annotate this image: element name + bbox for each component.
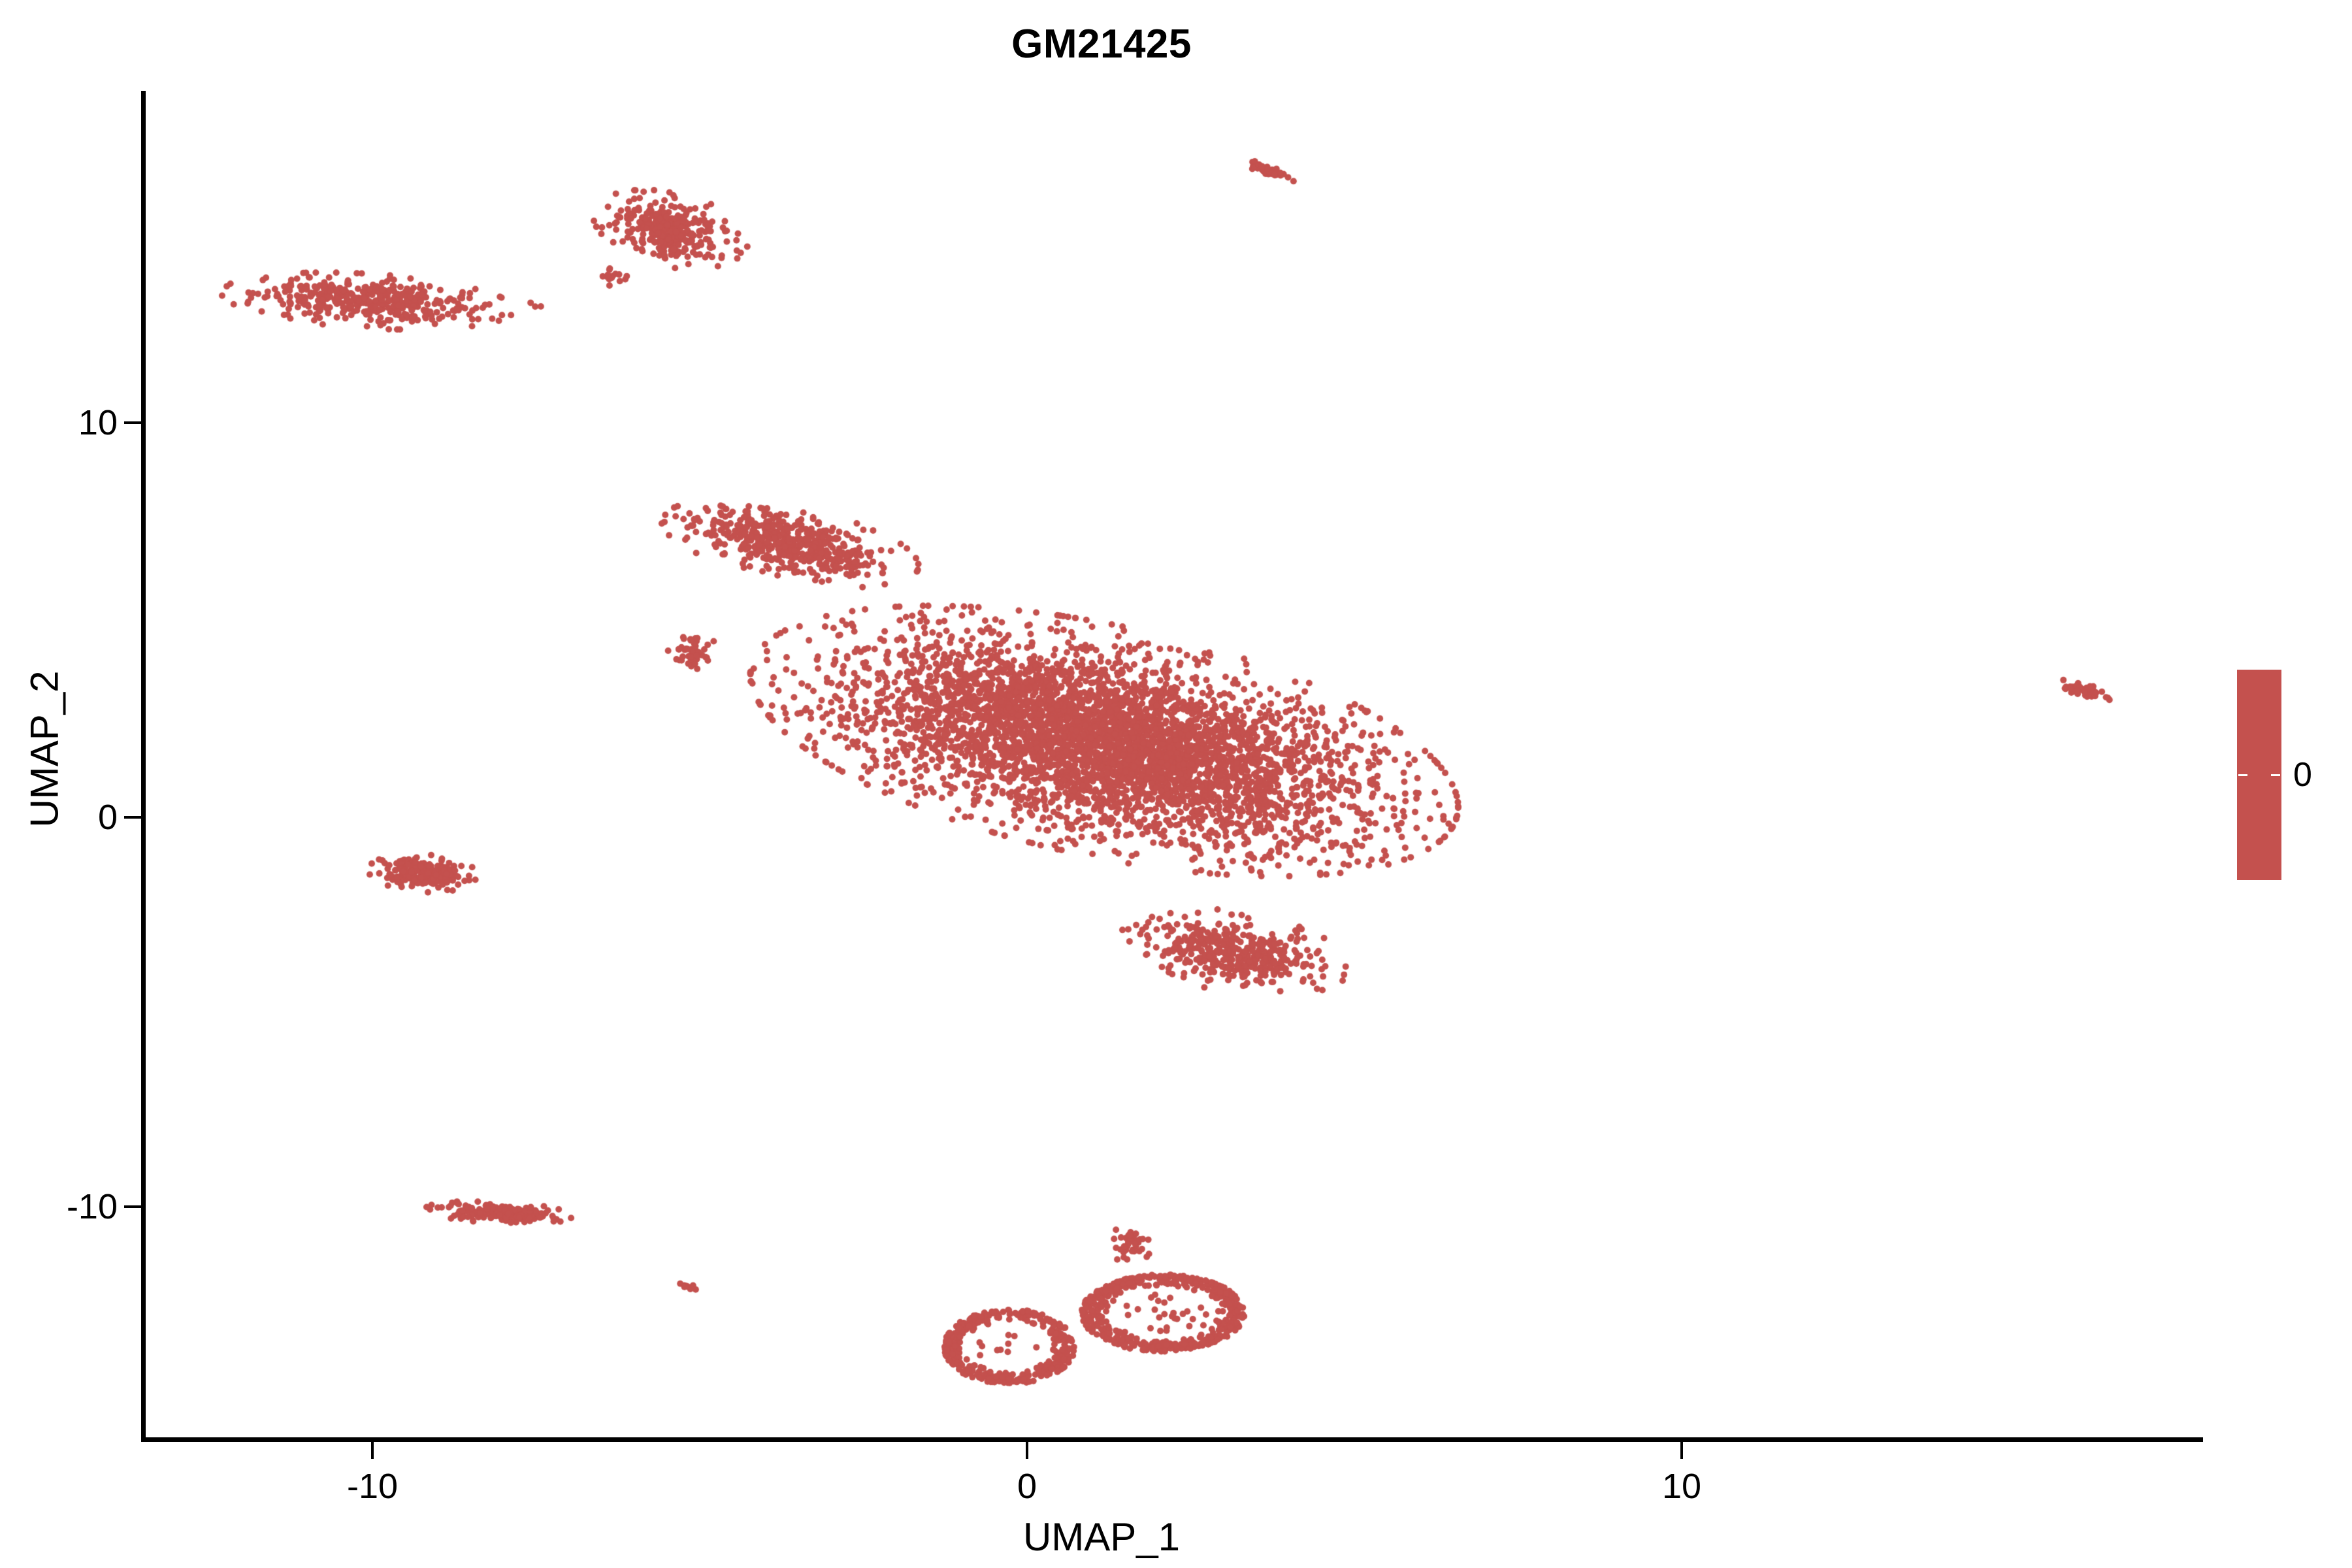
y-tick-mark-0 — [124, 816, 141, 819]
legend-tick-right-mark — [2271, 774, 2280, 776]
plot-panel — [144, 91, 2203, 1439]
y-tick-label-minus10: -10 — [67, 1186, 118, 1227]
scatter-points-layer — [144, 91, 2203, 1439]
y-tick-label-0: 0 — [98, 797, 118, 838]
legend[interactable]: 0 — [2237, 670, 2348, 882]
legend-tick-left-mark — [2238, 774, 2247, 776]
x-tick-label-10: 10 — [1662, 1466, 1701, 1507]
x-axis-line — [141, 1437, 2203, 1442]
y-axis-title: UMAP_2 — [22, 390, 67, 1109]
page-title: GM21425 — [0, 21, 2203, 67]
x-axis-title: UMAP_1 — [0, 1514, 2203, 1560]
umap-scatter-plot-figure: GM21425 -10 0 10 10 0 -10 UMAP_1 UMAP_2 … — [0, 0, 2352, 1568]
legend-label-0: 0 — [2293, 755, 2312, 794]
y-tick-label-10: 10 — [78, 402, 118, 443]
x-tick-label-minus10: -10 — [347, 1466, 398, 1507]
x-tick-label-0: 0 — [1017, 1466, 1037, 1507]
y-tick-mark-10 — [124, 421, 141, 424]
y-tick-mark-minus10 — [124, 1205, 141, 1208]
x-tick-mark-0 — [1026, 1442, 1028, 1459]
y-axis-line — [141, 91, 146, 1442]
x-tick-mark-minus10 — [371, 1442, 374, 1459]
x-tick-mark-10 — [1680, 1442, 1683, 1459]
